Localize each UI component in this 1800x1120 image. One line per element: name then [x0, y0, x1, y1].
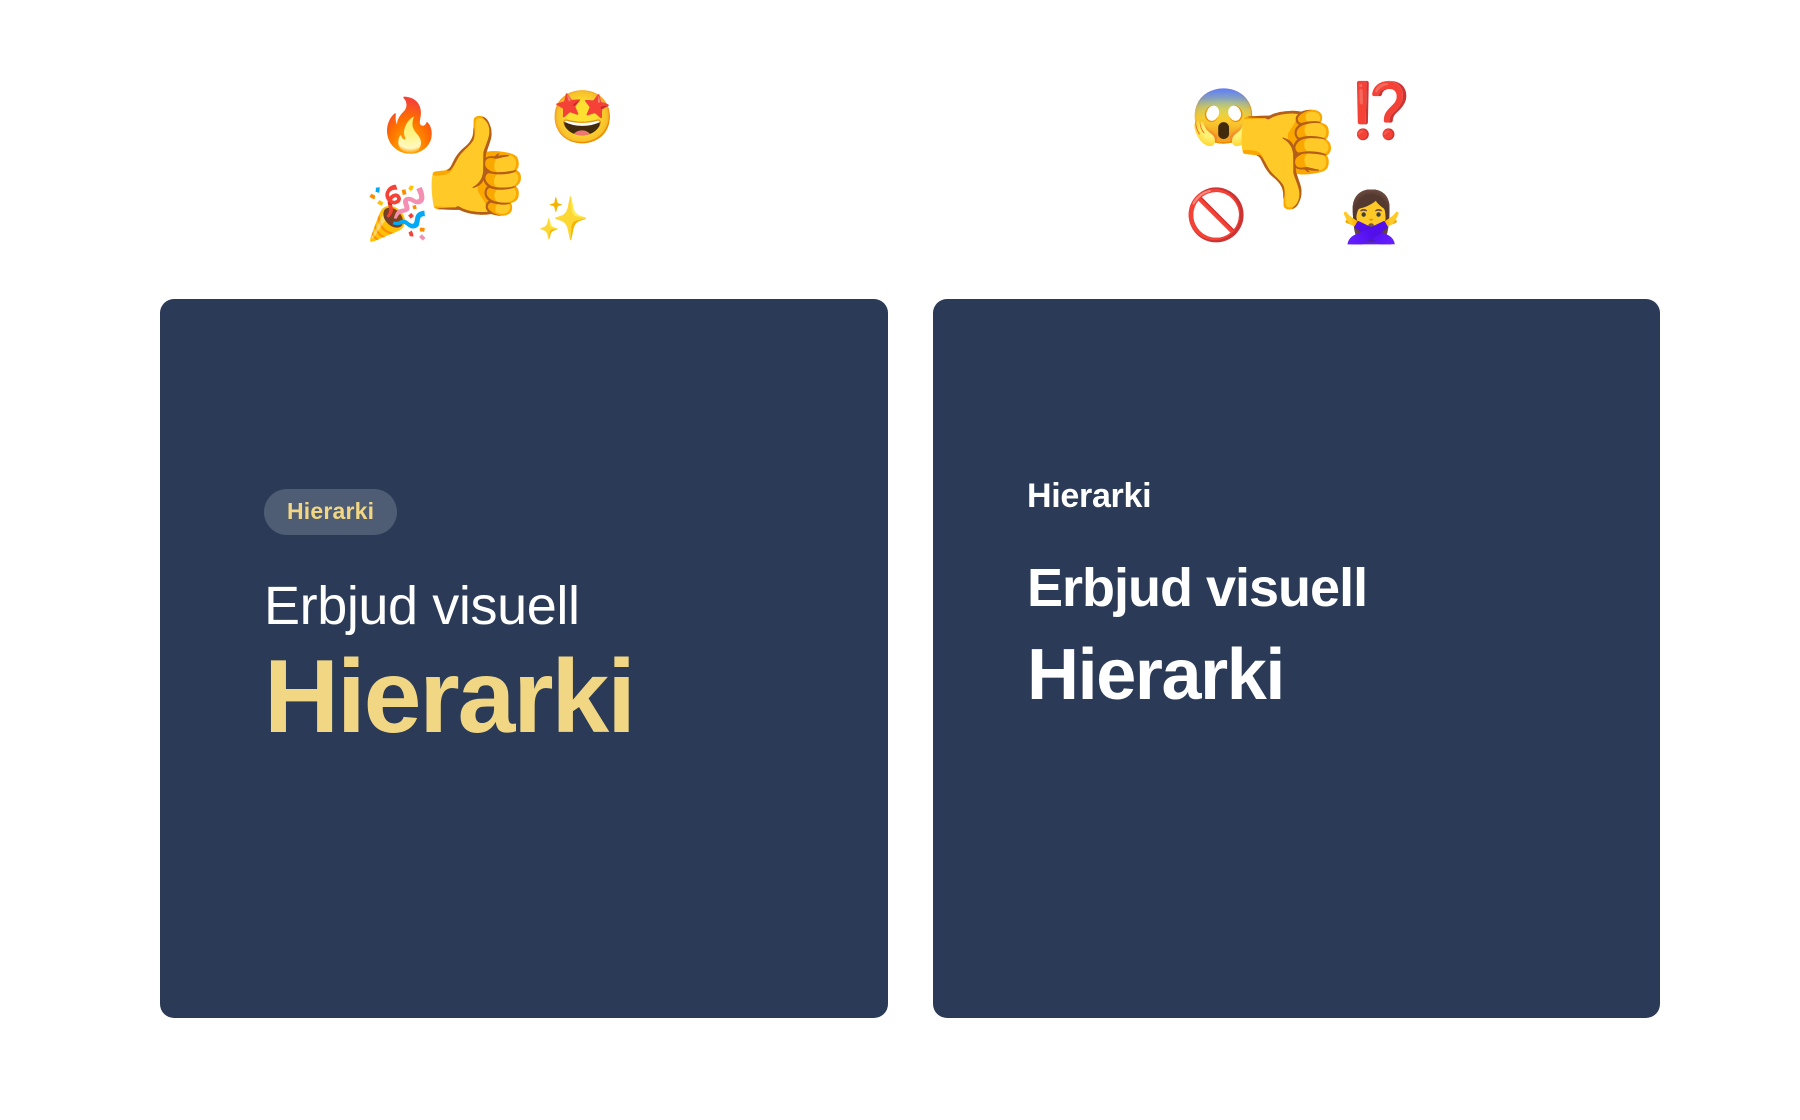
bad-card-headline: Hierarki — [1027, 637, 1660, 715]
good-card-badge: Hierarki — [264, 489, 397, 535]
prohibited-emoji: 🚫 — [1185, 190, 1247, 240]
bad-hierarchy-card: Hierarki Erbjud visuell Hierarki — [933, 299, 1660, 1018]
good-hierarchy-card: Hierarki Erbjud visuell Hierarki — [160, 299, 888, 1018]
good-card-headline: Hierarki — [264, 641, 888, 753]
star-struck-emoji: 🤩 — [550, 92, 615, 144]
thumbs-up-emoji: 👍 — [415, 118, 535, 214]
negative-reaction-emoji-cluster: 😱 ⁉️ 👎 🚫 🙅‍♀️ — [1165, 62, 1425, 262]
good-card-content: Hierarki Erbjud visuell Hierarki — [160, 489, 888, 754]
bad-card-badge: Hierarki — [1027, 479, 1151, 513]
positive-reaction-emoji-cluster: 🔥 🤩 👍 🎉 ✨ — [355, 70, 615, 270]
exclamation-question-mark-emoji: ⁉️ — [1348, 84, 1415, 138]
sparkles-emoji: ✨ — [537, 198, 589, 240]
slide-canvas: 🔥 🤩 👍 🎉 ✨ Hierarki Erbjud visuell Hierar… — [0, 0, 1800, 1120]
good-card-eyebrow: Erbjud visuell — [264, 577, 888, 635]
bad-card-eyebrow: Erbjud visuell — [1027, 559, 1660, 617]
woman-gesturing-no-emoji: 🙅‍♀️ — [1340, 192, 1402, 242]
party-popper-emoji: 🎉 — [365, 188, 430, 240]
bad-card-content: Hierarki Erbjud visuell Hierarki — [933, 479, 1660, 715]
